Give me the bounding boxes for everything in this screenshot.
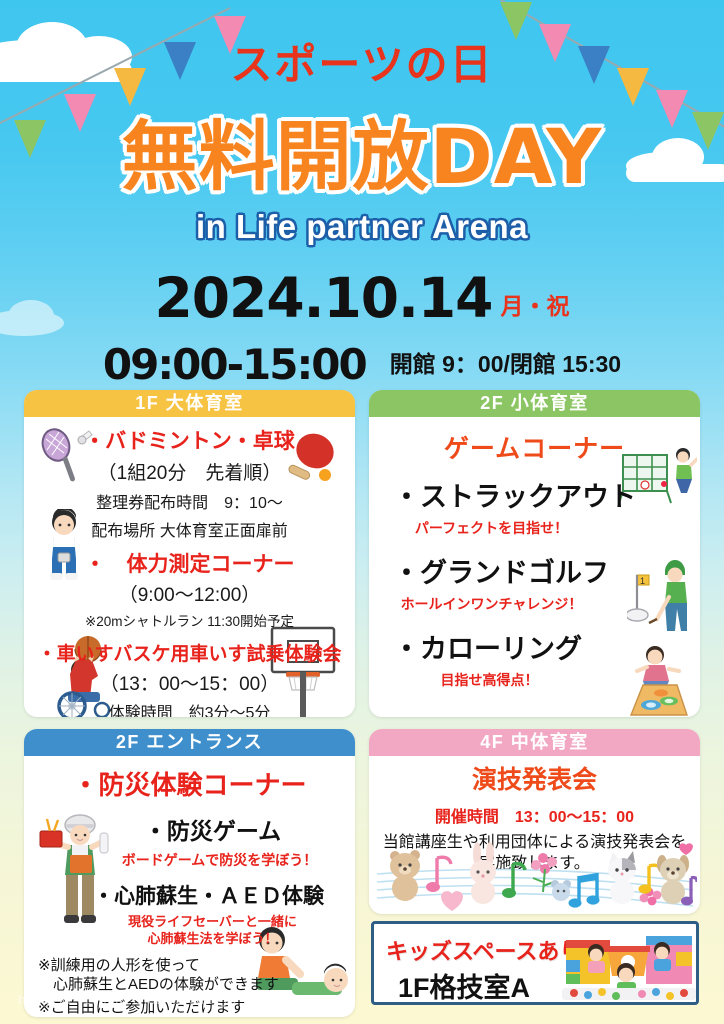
event-date: 2024.10.14 (155, 266, 493, 330)
card-2fe-note-2: ※訓練用の人形を使って (24, 957, 355, 976)
card-2fe-note-3: 心肺蘇生とAEDの体験ができます (24, 976, 355, 995)
card-2f-entrance: 2F エントランス (24, 729, 355, 1017)
card-2fs-item-1: ・グランドゴルフ (369, 551, 700, 590)
kids-space-headline: キッズスペースあり (386, 934, 581, 966)
event-time-row: 09:00-15:00開館 9：00/閉館 15:30 (0, 340, 724, 389)
page-title: 無料開放DAY (0, 95, 724, 205)
card-2fs-note-1: ホールインワンチャレンジ！ (369, 594, 700, 614)
poster-canvas: スポーツの日 無料開放DAY in Life partner Arena 202… (0, 0, 724, 1024)
card-2fe-item-0: ・防災ゲーム (24, 812, 355, 846)
event-time: 09:00-15:00 (103, 340, 366, 389)
card-4f-heading: 演技発表会 (369, 760, 700, 796)
card-2fs-item-0: ・ストラックアウト (369, 475, 700, 514)
card-1f-line-4: ・ 体力測定コーナー (24, 548, 355, 578)
card-4f-medium-gym: 4F 中体育室 演技発表会 開催時間 13：00～15：00 当館講座生や利用団… (369, 729, 700, 914)
card-1f-line-0: ・バドミントン・卓球 (24, 425, 355, 455)
eyebrow-sports-day: スポーツの日 (0, 31, 724, 92)
music-note-icon (569, 873, 600, 908)
card-4f-body: 演技発表会 開催時間 13：00～15：00 当館講座生や利用団体による演技発表… (369, 756, 700, 914)
site-watermark: http://lifepartner-arena.jp (18, 993, 237, 1008)
card-2fe-note-1a: 現役ライフセーバーと一緒に心肺蘇生法を学ぼう！ (24, 914, 355, 947)
card-2fs-header: 2F 小体育室 (369, 390, 700, 417)
card-2fe-note-0: ボードゲームで防災を学ぼう！ (24, 850, 355, 870)
rabbit-icon (470, 842, 496, 904)
card-1f-large-gym: 1F 大体育室 (24, 390, 355, 717)
card-1f-line-7: ・車いすバスケ用車いす試乗体験会 (24, 639, 355, 666)
kids-space-room: 1F格技室A (398, 966, 530, 1005)
mouse-icon (551, 880, 571, 901)
card-1f-line-8: （13：00～15：00） (24, 669, 355, 696)
music-animals-band-icon (373, 842, 697, 914)
card-2fs-note-2: 目指せ高得点！ (369, 670, 700, 690)
card-2fe-item-1: ・心肺蘇生・ＡＥＤ体験 (24, 880, 355, 910)
kids-space-box: キッズスペースあり 1F格技室A (371, 921, 699, 1005)
card-2fs-item-2: ・カローリング (369, 627, 700, 666)
card-4f-time: 開催時間 13：00～15：00 (369, 803, 700, 827)
card-1f-line-2: 整理券配布時間 9：10～ (24, 489, 355, 513)
card-1f-body: ・バドミントン・卓球 （1組20分 先着順） 整理券配布時間 9：10～ 配布場… (24, 417, 355, 717)
card-4f-header: 4F 中体育室 (369, 729, 700, 756)
card-2fs-note-0: パーフェクトを目指せ！ (369, 518, 700, 538)
card-2f-small-gym: 2F 小体育室 (369, 390, 700, 717)
card-2fs-heading: ゲームコーナー (369, 429, 700, 465)
kids-play-space-icon (562, 928, 696, 1000)
event-date-row: 2024.10.14月・祝 (0, 266, 724, 330)
card-2fe-header: 2F エントランス (24, 729, 355, 756)
card-2fe-body: ・防災体験コーナー ・防災ゲーム ボードゲームで防災を学ぼう！ ・心肺蘇生・ＡＥ… (24, 756, 355, 1017)
card-1f-line-1: （1組20分 先着順） (24, 458, 355, 485)
bear-icon (390, 850, 420, 901)
card-1f-line-6: ※20mシャトルラン 11:30開始予定 (24, 610, 355, 630)
event-date-day: 月・祝 (500, 293, 569, 319)
card-2fe-title: ・防災体験コーナー (24, 765, 355, 802)
card-1f-line-3: 配布場所 大体育室正面扉前 (24, 517, 355, 541)
card-2fs-body: 1 (369, 417, 700, 717)
card-1f-line-9: 体験時間 約3分～5分 (24, 699, 355, 717)
cat-icon (608, 851, 636, 904)
venue-name: in Life partner Arena (0, 208, 724, 246)
card-1f-header: 1F 大体育室 (24, 390, 355, 417)
card-1f-line-5: （9:00～12:00） (24, 580, 355, 607)
event-open-close-note: 開館 9：00/閉館 15:30 (390, 351, 621, 377)
